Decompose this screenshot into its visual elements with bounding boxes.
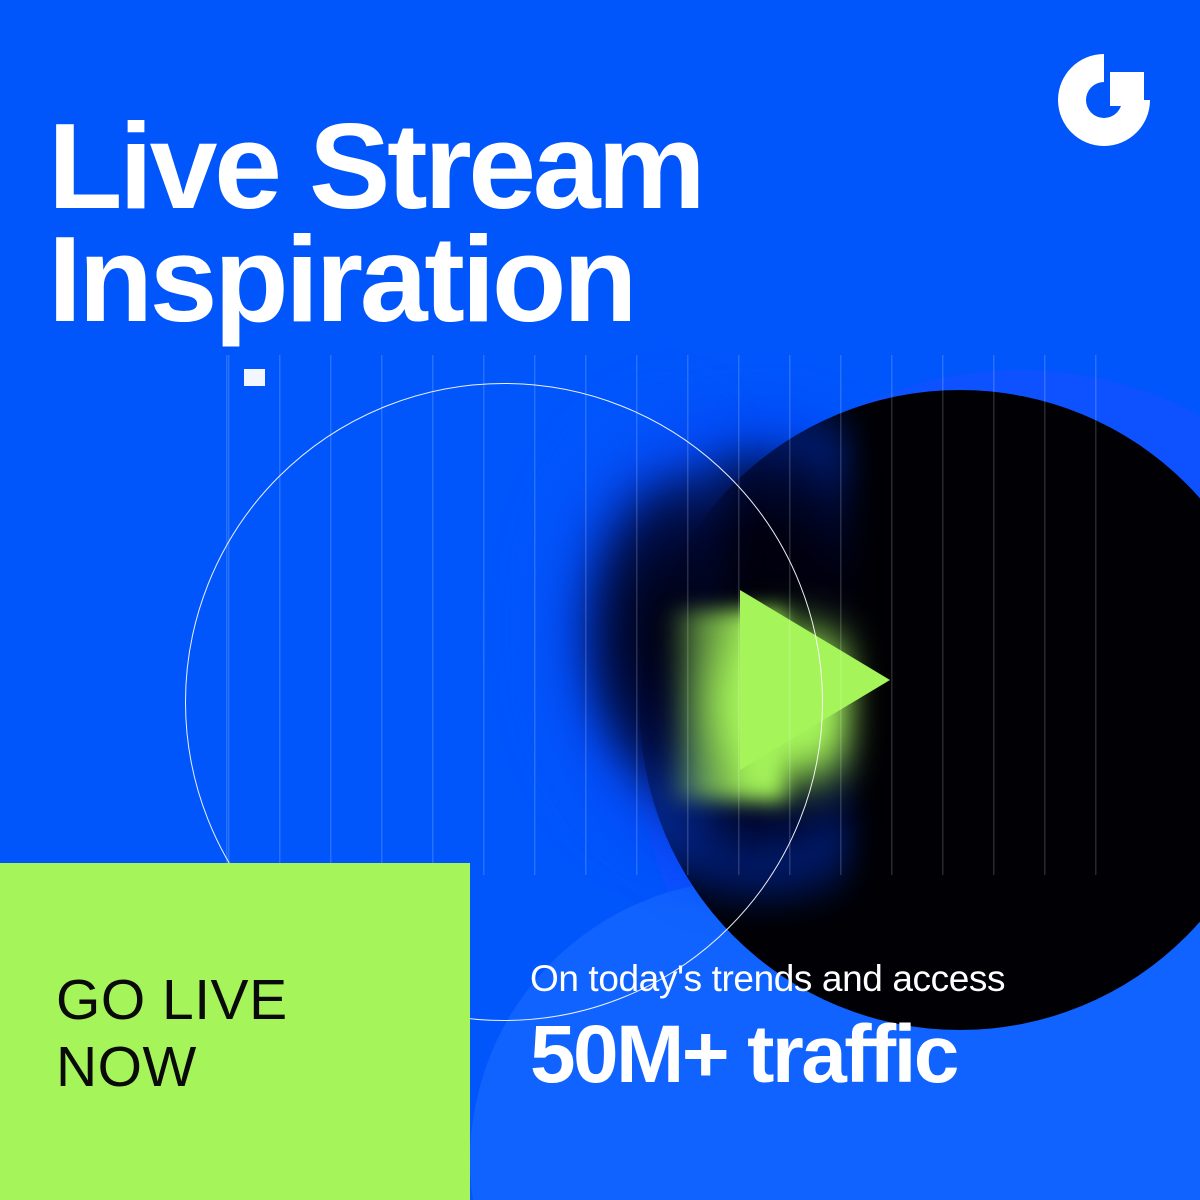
hero-artwork	[180, 355, 1100, 875]
cta-block[interactable]: GO LIVE NOW	[0, 863, 470, 1200]
headline-line-2: Inspiration	[48, 223, 948, 336]
promo-copy: On today's trends and access 50M+ traffi…	[530, 958, 1180, 1102]
promo-poster: Live Stream Inspiration GO LIVE NOW On t…	[0, 0, 1200, 1200]
headline-line-1: Live Stream	[48, 110, 948, 223]
square-marker-icon	[244, 369, 265, 386]
g-mark-logo-icon	[1050, 46, 1158, 154]
cta-line-1: GO LIVE	[56, 967, 288, 1034]
cta-line-2: NOW	[56, 1034, 288, 1101]
promo-kicker: On today's trends and access	[530, 958, 1180, 1000]
promo-stat: 50M+ traffic	[530, 1008, 1180, 1102]
play-triangle-icon	[740, 590, 890, 770]
cta-label: GO LIVE NOW	[56, 967, 288, 1102]
page-title: Live Stream Inspiration	[48, 110, 948, 337]
